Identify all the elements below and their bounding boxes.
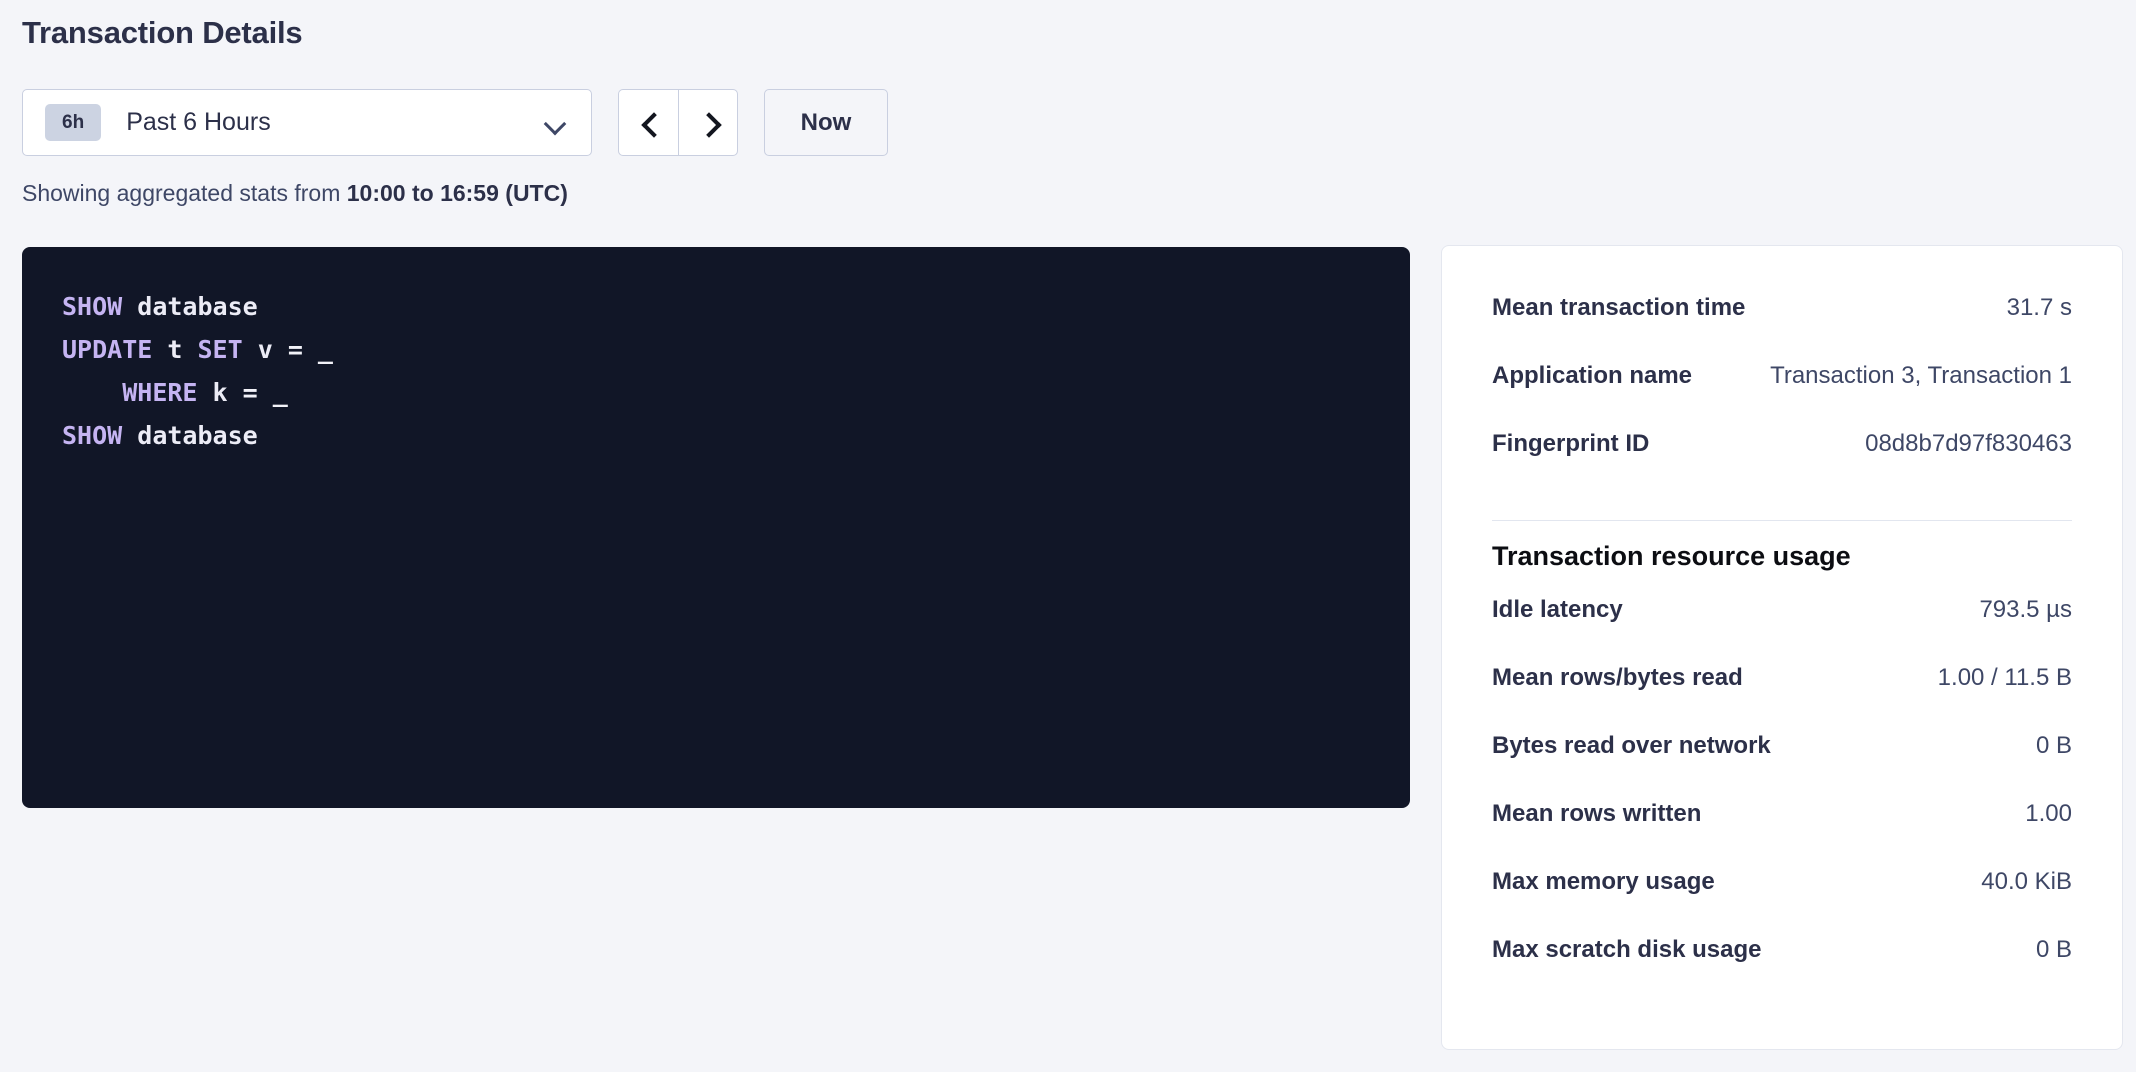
previous-period-button[interactable] <box>618 89 678 156</box>
summary-stats-list: Mean transaction time31.7 sApplication n… <box>1442 294 2122 498</box>
transaction-details-page: Transaction Details 6h Past 6 Hours Now … <box>0 0 2136 1072</box>
chevron-left-icon <box>639 113 659 133</box>
stat-value: 40.0 KiB <box>1981 868 2072 896</box>
sql-code-line: SHOW database <box>62 414 1370 457</box>
stat-value: 0 B <box>2036 732 2072 760</box>
stat-value: 793.5 µs <box>1979 596 2072 624</box>
stat-value: 0 B <box>2036 936 2072 964</box>
sql-token-op <box>62 378 122 407</box>
stat-value: 31.7 s <box>2007 294 2072 322</box>
stat-label: Max scratch disk usage <box>1492 936 1761 964</box>
stat-row: Max scratch disk usage0 B <box>1442 936 2122 1004</box>
stat-value: 1.00 / 11.5 B <box>1938 664 2072 692</box>
stat-row: Mean rows/bytes read1.00 / 11.5 B <box>1442 664 2122 732</box>
sql-token-kw: SHOW <box>62 292 122 321</box>
time-nav-group <box>618 89 738 156</box>
stat-row: Application nameTransaction 3, Transacti… <box>1442 362 2122 430</box>
stat-label: Application name <box>1492 362 1692 390</box>
sql-token-idn: t <box>167 335 182 364</box>
sql-token-kw: SET <box>198 335 243 364</box>
aggregation-range-text: Showing aggregated stats from 10:00 to 1… <box>22 180 568 207</box>
chevron-down-icon <box>545 116 567 129</box>
sql-token-op: = _ <box>228 378 288 407</box>
now-button[interactable]: Now <box>764 89 888 156</box>
sql-token-op <box>243 335 258 364</box>
stat-label: Max memory usage <box>1492 868 1715 896</box>
sql-token-op <box>182 335 197 364</box>
transaction-info-card: Mean transaction time31.7 sApplication n… <box>1441 245 2123 1050</box>
next-period-button[interactable] <box>678 89 738 156</box>
stat-row: Fingerprint ID08d8b7d97f830463 <box>1442 430 2122 498</box>
stat-row: Max memory usage40.0 KiB <box>1442 868 2122 936</box>
stat-row: Mean transaction time31.7 s <box>1442 294 2122 362</box>
sql-code-line: SHOW database <box>62 285 1370 328</box>
stat-label: Idle latency <box>1492 596 1623 624</box>
sql-token-op <box>197 378 212 407</box>
stat-value: Transaction 3, Transaction 1 <box>1770 362 2072 390</box>
stat-value: 1.00 <box>2025 800 2072 828</box>
chevron-right-icon <box>698 113 718 133</box>
sql-statement-body: SHOW databaseUPDATE t SET v = _ WHERE k … <box>62 285 1370 457</box>
resource-usage-list: Idle latency793.5 µsMean rows/bytes read… <box>1442 596 2122 1004</box>
time-range-label: Past 6 Hours <box>126 108 545 137</box>
time-range-select[interactable]: 6h Past 6 Hours <box>22 89 592 156</box>
sql-token-idn: database <box>137 421 257 450</box>
aggregation-range-prefix: Showing aggregated stats from <box>22 180 347 206</box>
sql-token-idn: v <box>258 335 273 364</box>
sql-token-kw: SHOW <box>62 421 122 450</box>
stat-row: Mean rows written1.00 <box>1442 800 2122 868</box>
sql-code-line: UPDATE t SET v = _ <box>62 328 1370 371</box>
card-divider <box>1492 520 2072 521</box>
sql-token-idn: k <box>213 378 228 407</box>
sql-token-op: = _ <box>273 335 333 364</box>
aggregation-range-value: 10:00 to 16:59 (UTC) <box>347 180 568 206</box>
stat-row: Idle latency793.5 µs <box>1442 596 2122 664</box>
stat-label: Fingerprint ID <box>1492 430 1649 458</box>
stat-value: 08d8b7d97f830463 <box>1865 430 2072 458</box>
time-range-toolbar: 6h Past 6 Hours Now <box>22 89 888 156</box>
stat-label: Mean rows/bytes read <box>1492 664 1743 692</box>
time-range-badge: 6h <box>45 104 101 141</box>
stat-label: Bytes read over network <box>1492 732 1771 760</box>
sql-token-op <box>122 421 137 450</box>
sql-token-idn: database <box>137 292 257 321</box>
stat-row: Bytes read over network0 B <box>1442 732 2122 800</box>
stat-label: Mean rows written <box>1492 800 1701 828</box>
sql-code-line: WHERE k = _ <box>62 371 1370 414</box>
sql-token-op <box>122 292 137 321</box>
sql-statement-panel[interactable]: SHOW databaseUPDATE t SET v = _ WHERE k … <box>22 247 1410 808</box>
page-title: Transaction Details <box>22 15 302 51</box>
sql-token-op <box>152 335 167 364</box>
sql-token-kw: UPDATE <box>62 335 152 364</box>
resource-usage-title: Transaction resource usage <box>1442 541 2122 572</box>
sql-token-kw: WHERE <box>122 378 197 407</box>
stat-label: Mean transaction time <box>1492 294 1745 322</box>
